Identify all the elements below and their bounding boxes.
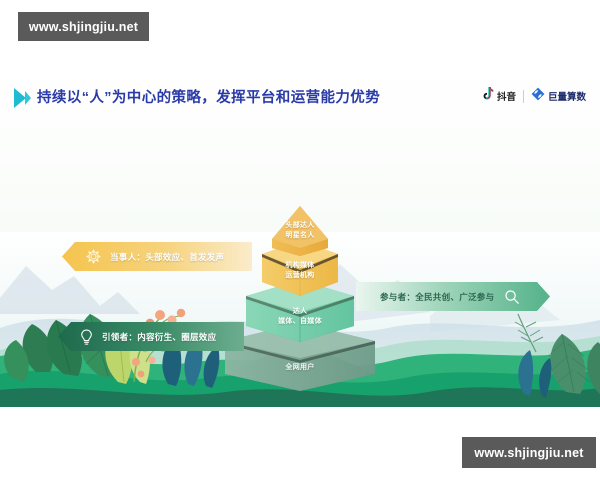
pyramid-diagram: 头部达人 明星名人 机构媒体 运营机构 达人 媒体、自媒体 全网用户 (0, 58, 600, 407)
callout-green-left[interactable]: 引领者：内容衍生、圈层效应 (58, 322, 244, 351)
watermark-top: www.shjingjiu.net (18, 12, 149, 41)
search-icon (504, 289, 520, 305)
lightbulb-icon (80, 329, 93, 345)
pyramid-tier-top (272, 206, 328, 256)
callout-green-right-label: 参与者：全民共创、广泛参与 (380, 291, 494, 303)
callout-green-left-label: 引领者：内容衍生、圈层效应 (102, 331, 216, 343)
callout-yellow-label: 当事人：头部效应、首发发声 (110, 251, 224, 263)
gear-flower-icon (86, 249, 101, 264)
slide-canvas: 持续以“人”为中心的策略，发挥平台和运营能力优势 抖音 (0, 58, 600, 407)
watermark-bottom: www.shjingjiu.net (462, 437, 596, 468)
